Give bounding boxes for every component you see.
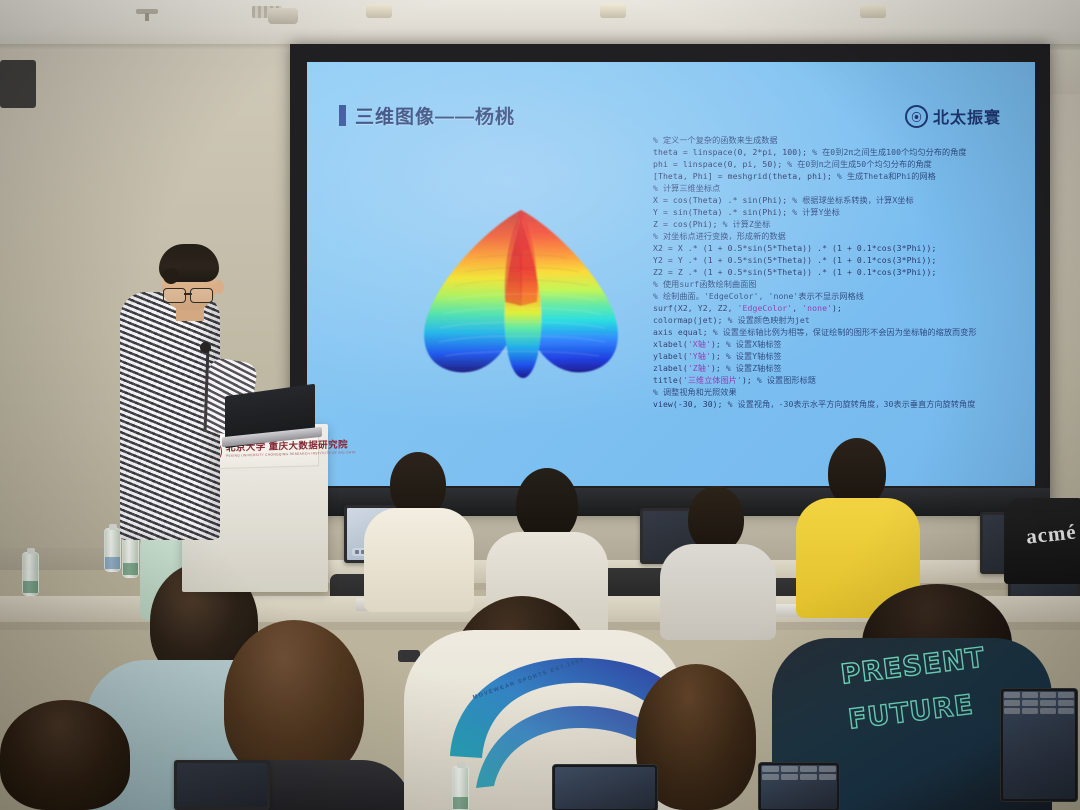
code-line: Z2 = Z .* (1 + 0.5*sin(5*Theta)) .* (1 +… bbox=[653, 266, 1031, 278]
head bbox=[688, 486, 744, 552]
wall-speaker-panel bbox=[0, 60, 36, 108]
speaker-hair bbox=[159, 244, 219, 282]
water-bottle bbox=[22, 552, 39, 596]
ceiling-lamp bbox=[600, 4, 626, 18]
code-line: axis equal; % 设置坐标轴比例为相等，保证绘制的图形不会因为坐标轴的… bbox=[653, 326, 1031, 338]
brand-logo: ⦿ 北太振寰 bbox=[905, 104, 1001, 128]
lecture-hall-photo: 三维图像——杨桃 ⦿ 北太振寰 bbox=[0, 0, 1080, 810]
matlab-3d-figure bbox=[405, 182, 637, 392]
code-line: [Theta, Phi] = meshgrid(theta, phi); % 生… bbox=[653, 170, 1031, 182]
code-line: xlabel('X轴'); % 设置X轴标签 bbox=[653, 338, 1031, 350]
code-line: Y = sin(Theta) .* sin(Phi); % 计算Y坐标 bbox=[653, 206, 1031, 218]
torso bbox=[364, 508, 474, 612]
code-line: % 对坐标点进行变换，形成新的数据 bbox=[653, 230, 1031, 242]
starfruit-surface-svg bbox=[405, 182, 637, 392]
code-line: % 调整视角和光照效果 bbox=[653, 386, 1031, 398]
ceiling-lamp bbox=[860, 4, 886, 18]
smartphone bbox=[758, 762, 840, 810]
phone-screen bbox=[555, 767, 655, 809]
phone-app-grid bbox=[762, 766, 836, 808]
matlab-code-block: % 定义一个复杂的函数来生成数据theta = linspace(0, 2*pi… bbox=[653, 134, 1031, 410]
ceiling bbox=[0, 0, 1080, 48]
code-line: ylabel('Y轴'); % 设置Y轴标签 bbox=[653, 350, 1031, 362]
ceiling-lamp bbox=[366, 4, 392, 18]
projected-slide: 三维图像——杨桃 ⦿ 北太振寰 bbox=[307, 62, 1035, 486]
title-accent-bar bbox=[339, 105, 346, 126]
microphone-icon bbox=[200, 342, 211, 353]
phone-app-grid bbox=[1004, 692, 1074, 798]
code-line: % 定义一个复杂的函数来生成数据 bbox=[653, 134, 1031, 146]
code-line: colormap(jet); % 设置颜色映射为jet bbox=[653, 314, 1031, 326]
slide-title: 三维图像——杨桃 bbox=[339, 102, 515, 129]
water-bottle bbox=[122, 534, 139, 578]
code-line: % 计算三维坐标点 bbox=[653, 182, 1031, 194]
laptop bbox=[174, 760, 270, 810]
smoke-detector-icon bbox=[268, 8, 298, 24]
head bbox=[516, 468, 578, 542]
code-line: Z = cos(Phi); % 计算Z坐标 bbox=[653, 218, 1031, 230]
laptop-screen bbox=[177, 763, 267, 807]
water-bottle bbox=[104, 528, 121, 572]
sprinkler-icon bbox=[136, 9, 158, 14]
smartphone bbox=[1000, 688, 1078, 802]
code-line: phi = linspace(0, pi, 50); % 在0到π之间生成50个… bbox=[653, 158, 1031, 170]
code-line: % 绘制曲面。'EdgeColor', 'none'表示不显示网格线 bbox=[653, 290, 1031, 302]
torso bbox=[660, 544, 776, 640]
head bbox=[224, 620, 364, 780]
speaker-ear bbox=[215, 280, 224, 294]
water-bottle bbox=[452, 766, 469, 810]
code-line: zlabel('Z轴'); % 设置Z轴标签 bbox=[653, 362, 1031, 374]
code-line: title('三维立体图片'); % 设置图形标题 bbox=[653, 374, 1031, 386]
glasses-icon bbox=[163, 288, 213, 302]
code-line: Y2 = Y .* (1 + 0.5*sin(5*Theta)) .* (1 +… bbox=[653, 254, 1031, 266]
slide-title-text: 三维图像——杨桃 bbox=[355, 102, 515, 129]
code-line: view(-30, 30); % 设置视角，-30表示水平方向旋转角度，30表示… bbox=[653, 398, 1031, 410]
garment-brand-text: acmé bbox=[1025, 519, 1078, 549]
code-line: theta = linspace(0, 2*pi, 100); % 在0到2π之… bbox=[653, 146, 1031, 158]
code-line: % 使用surf函数绘制曲面图 bbox=[653, 278, 1031, 290]
smartphone bbox=[552, 764, 658, 810]
code-line: X2 = X .* (1 + 0.5*sin(5*Theta)) .* (1 +… bbox=[653, 242, 1031, 254]
brand-logo-text: 北太振寰 bbox=[933, 104, 1001, 128]
head bbox=[0, 700, 130, 810]
circle-swirl-icon: ⦿ bbox=[905, 105, 928, 128]
code-line: X = cos(Theta) .* sin(Phi); % 根据球坐标系转换，计… bbox=[653, 194, 1031, 206]
code-line: surf(X2, Y2, Z2, 'EdgeColor', 'none'); bbox=[653, 302, 1031, 314]
